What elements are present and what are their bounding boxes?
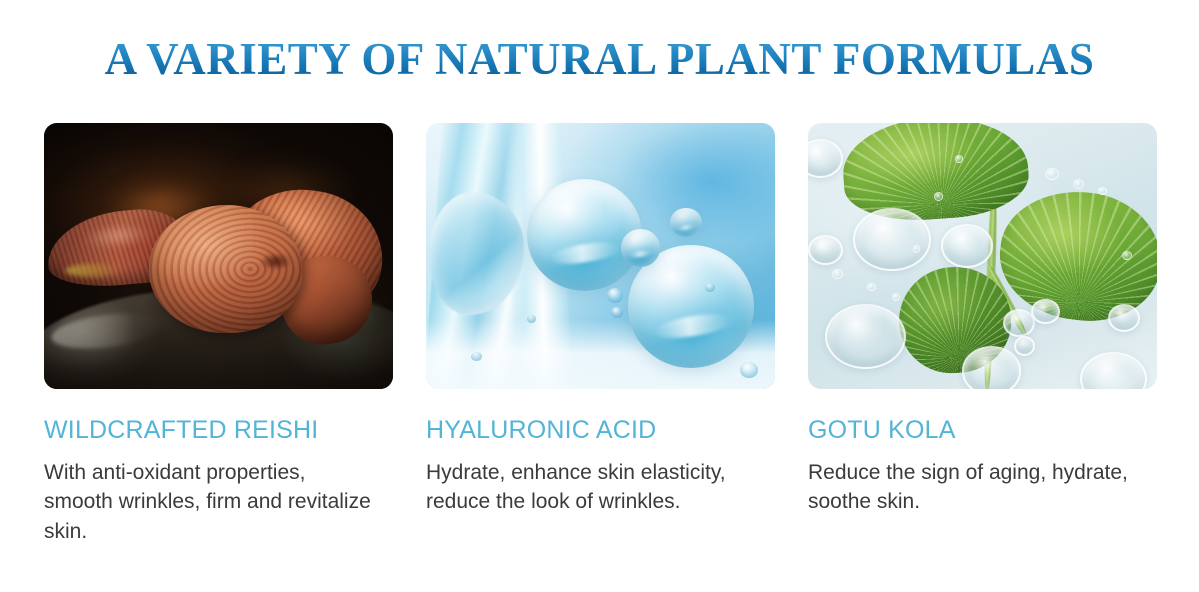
water-droplet	[611, 307, 623, 318]
water-sphere-small-top	[670, 208, 701, 237]
water-bubble	[941, 224, 994, 268]
water-bubble	[962, 346, 1022, 389]
page-title: A VARIETY OF NATURAL PLANT FORMULAS	[0, 36, 1199, 83]
ingredient-card-row: WILDCRAFTED REISHI With anti-oxidant pro…	[44, 123, 1156, 547]
water-bubble	[808, 235, 843, 266]
photo-vignette	[44, 123, 393, 389]
water-droplet	[1122, 251, 1132, 260]
gotu-kola-leaf-top	[840, 123, 1032, 225]
water-droplet	[913, 245, 921, 252]
water-droplet	[955, 155, 963, 163]
water-droplet	[1045, 168, 1059, 180]
water-bubble	[825, 304, 906, 369]
water-bubble	[1080, 352, 1147, 389]
water-droplet	[1098, 187, 1107, 195]
reishi-mushroom-photo	[44, 123, 393, 389]
ingredient-card-gotu-kola: GOTU KOLA Reduce the sign of aging, hydr…	[808, 123, 1157, 547]
water-bubble	[1031, 299, 1059, 324]
leaf-veins	[840, 123, 1032, 225]
water-droplet	[607, 288, 623, 303]
ingredient-heading-gotu-kola: GOTU KOLA	[808, 417, 1157, 445]
water-bubble	[853, 208, 930, 271]
water-droplet	[1073, 179, 1084, 189]
ingredient-body-gotu-kola: Reduce the sign of aging, hydrate, sooth…	[808, 458, 1138, 518]
water-bubble	[808, 139, 843, 178]
hyaluronic-acid-photo	[426, 123, 775, 389]
water-bubble	[1108, 304, 1140, 332]
ingredient-body-reishi: With anti-oxidant properties, smooth wri…	[44, 458, 374, 547]
water-droplet	[867, 283, 876, 291]
water-droplet	[705, 283, 715, 292]
ingredient-body-hyaluronic-acid: Hydrate, enhance skin elasticity, reduce…	[426, 458, 756, 518]
water-droplet	[832, 269, 842, 278]
ingredient-heading-reishi: WILDCRAFTED REISHI	[44, 417, 393, 445]
ingredient-heading-hyaluronic-acid: HYALURONIC ACID	[426, 417, 775, 445]
water-bubble	[1014, 336, 1035, 356]
ingredient-card-hyaluronic-acid: HYALURONIC ACID Hydrate, enhance skin el…	[426, 123, 775, 547]
water-droplet	[740, 362, 757, 378]
ingredient-card-reishi: WILDCRAFTED REISHI With anti-oxidant pro…	[44, 123, 393, 547]
water-droplet	[892, 293, 900, 301]
water-sphere-small-mid	[621, 229, 659, 266]
water-droplet	[471, 352, 481, 362]
gotu-kola-photo	[808, 123, 1157, 389]
